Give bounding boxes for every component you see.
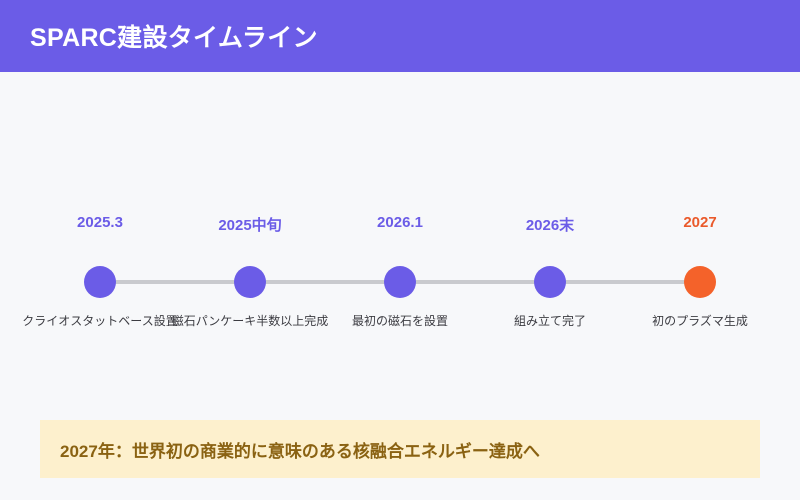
- milestone-year-label: 2025.3: [20, 214, 180, 231]
- milestone-description: 組み立て完了: [470, 312, 630, 329]
- page-title: SPARC建設タイムライン: [0, 18, 318, 54]
- milestone-description: 磁石パンケーキ半数以上完成: [170, 312, 330, 329]
- page-header: SPARC建設タイムライン: [0, 0, 800, 72]
- milestone-year-label: 2026.1: [320, 214, 480, 231]
- summary-banner: 2027年：世界初の商業的に意味のある核融合エネルギー達成へ: [40, 420, 760, 478]
- milestone-dot-icon[interactable]: [384, 266, 416, 298]
- milestone-dot-icon[interactable]: [234, 266, 266, 298]
- milestone-description: クライオスタットベース設置: [20, 312, 180, 329]
- timeline-container: 2025.3クライオスタットベース設置2025中旬磁石パンケーキ半数以上完成20…: [0, 72, 800, 420]
- milestone-dot-icon[interactable]: [534, 266, 566, 298]
- milestone-year-label: 2025中旬: [170, 214, 330, 235]
- milestone-year-label: 2027: [620, 214, 780, 231]
- milestone-dot-icon[interactable]: [84, 266, 116, 298]
- milestone-year-label: 2026末: [470, 214, 630, 235]
- milestone-description: 初のプラズマ生成: [620, 312, 780, 329]
- summary-banner-text: 2027年：世界初の商業的に意味のある核融合エネルギー達成へ: [40, 437, 540, 462]
- milestone-dot-icon[interactable]: [684, 266, 716, 298]
- milestone-description: 最初の磁石を設置: [320, 312, 480, 329]
